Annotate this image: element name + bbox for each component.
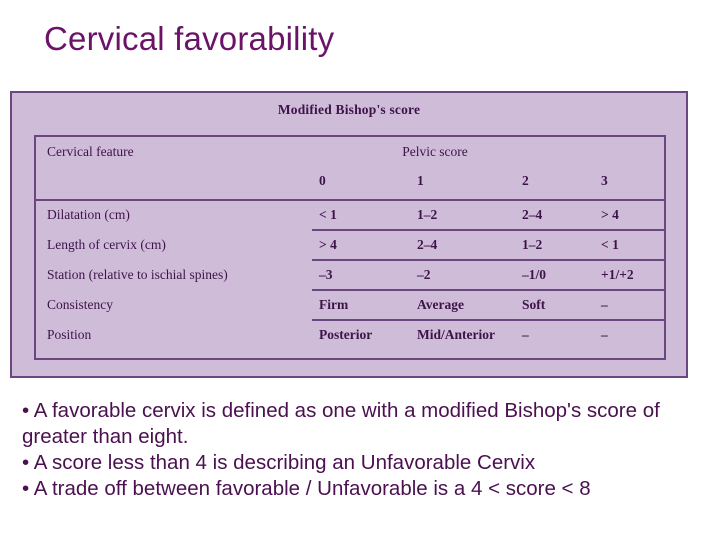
row-value-score-1: –2 (417, 267, 431, 283)
column-header-score-1: 1 (417, 173, 424, 189)
table-header-row: Cervical feature Pelvic score 0 1 2 3 (36, 137, 664, 201)
table-row: Length of cervix (cm) > 4 2–4 1–2 < 1 (36, 231, 664, 261)
column-group-header-pelvic-score: Pelvic score (36, 144, 664, 160)
row-value-score-3: > 4 (601, 207, 619, 223)
table-row: Consistency Firm Average Soft – (36, 291, 664, 321)
column-header-score-3: 3 (601, 173, 608, 189)
row-value-score-0: –3 (319, 267, 333, 283)
row-value-score-0: Posterior (319, 327, 372, 343)
row-value-score-1: Mid/Anterior (417, 327, 495, 343)
list-item: • A favorable cervix is defined as one w… (22, 398, 698, 450)
page-title: Cervical favorability (44, 20, 334, 58)
list-item: • A trade off between favorable / Unfavo… (22, 476, 698, 502)
row-value-score-2: Soft (522, 297, 545, 313)
column-header-score-2: 2 (522, 173, 529, 189)
table-row: Station (relative to ischial spines) –3 … (36, 261, 664, 291)
row-value-score-2: – (522, 327, 529, 343)
row-value-score-1: 2–4 (417, 237, 437, 253)
row-feature-label: Station (relative to ischial spines) (47, 267, 228, 283)
panel-caption: Modified Bishop's score (12, 102, 686, 118)
row-value-score-1: 1–2 (417, 207, 437, 223)
table-row: Dilatation (cm) < 1 1–2 2–4 > 4 (36, 201, 664, 231)
table-row: Position Posterior Mid/Anterior – – (36, 321, 664, 351)
row-value-score-0: > 4 (319, 237, 337, 253)
row-feature-label: Dilatation (cm) (47, 207, 130, 223)
list-item: • A score less than 4 is describing an U… (22, 450, 698, 476)
row-value-score-2: –1/0 (522, 267, 546, 283)
column-header-score-0: 0 (319, 173, 326, 189)
row-value-score-3: – (601, 297, 608, 313)
row-value-score-0: Firm (319, 297, 348, 313)
row-feature-label: Consistency (47, 297, 113, 313)
row-feature-label: Length of cervix (cm) (47, 237, 166, 253)
row-value-score-2: 2–4 (522, 207, 542, 223)
row-value-score-3: – (601, 327, 608, 343)
row-value-score-1: Average (417, 297, 464, 313)
row-value-score-3: +1/+2 (601, 267, 634, 283)
row-feature-label: Position (47, 327, 91, 343)
bishop-score-panel: Modified Bishop's score Cervical feature… (10, 91, 688, 378)
bullet-list: • A favorable cervix is defined as one w… (22, 398, 698, 502)
row-value-score-0: < 1 (319, 207, 337, 223)
row-value-score-3: < 1 (601, 237, 619, 253)
table-body: Dilatation (cm) < 1 1–2 2–4 > 4 Length o… (36, 201, 664, 351)
bishop-score-table: Cervical feature Pelvic score 0 1 2 3 Di… (34, 135, 666, 360)
row-value-score-2: 1–2 (522, 237, 542, 253)
